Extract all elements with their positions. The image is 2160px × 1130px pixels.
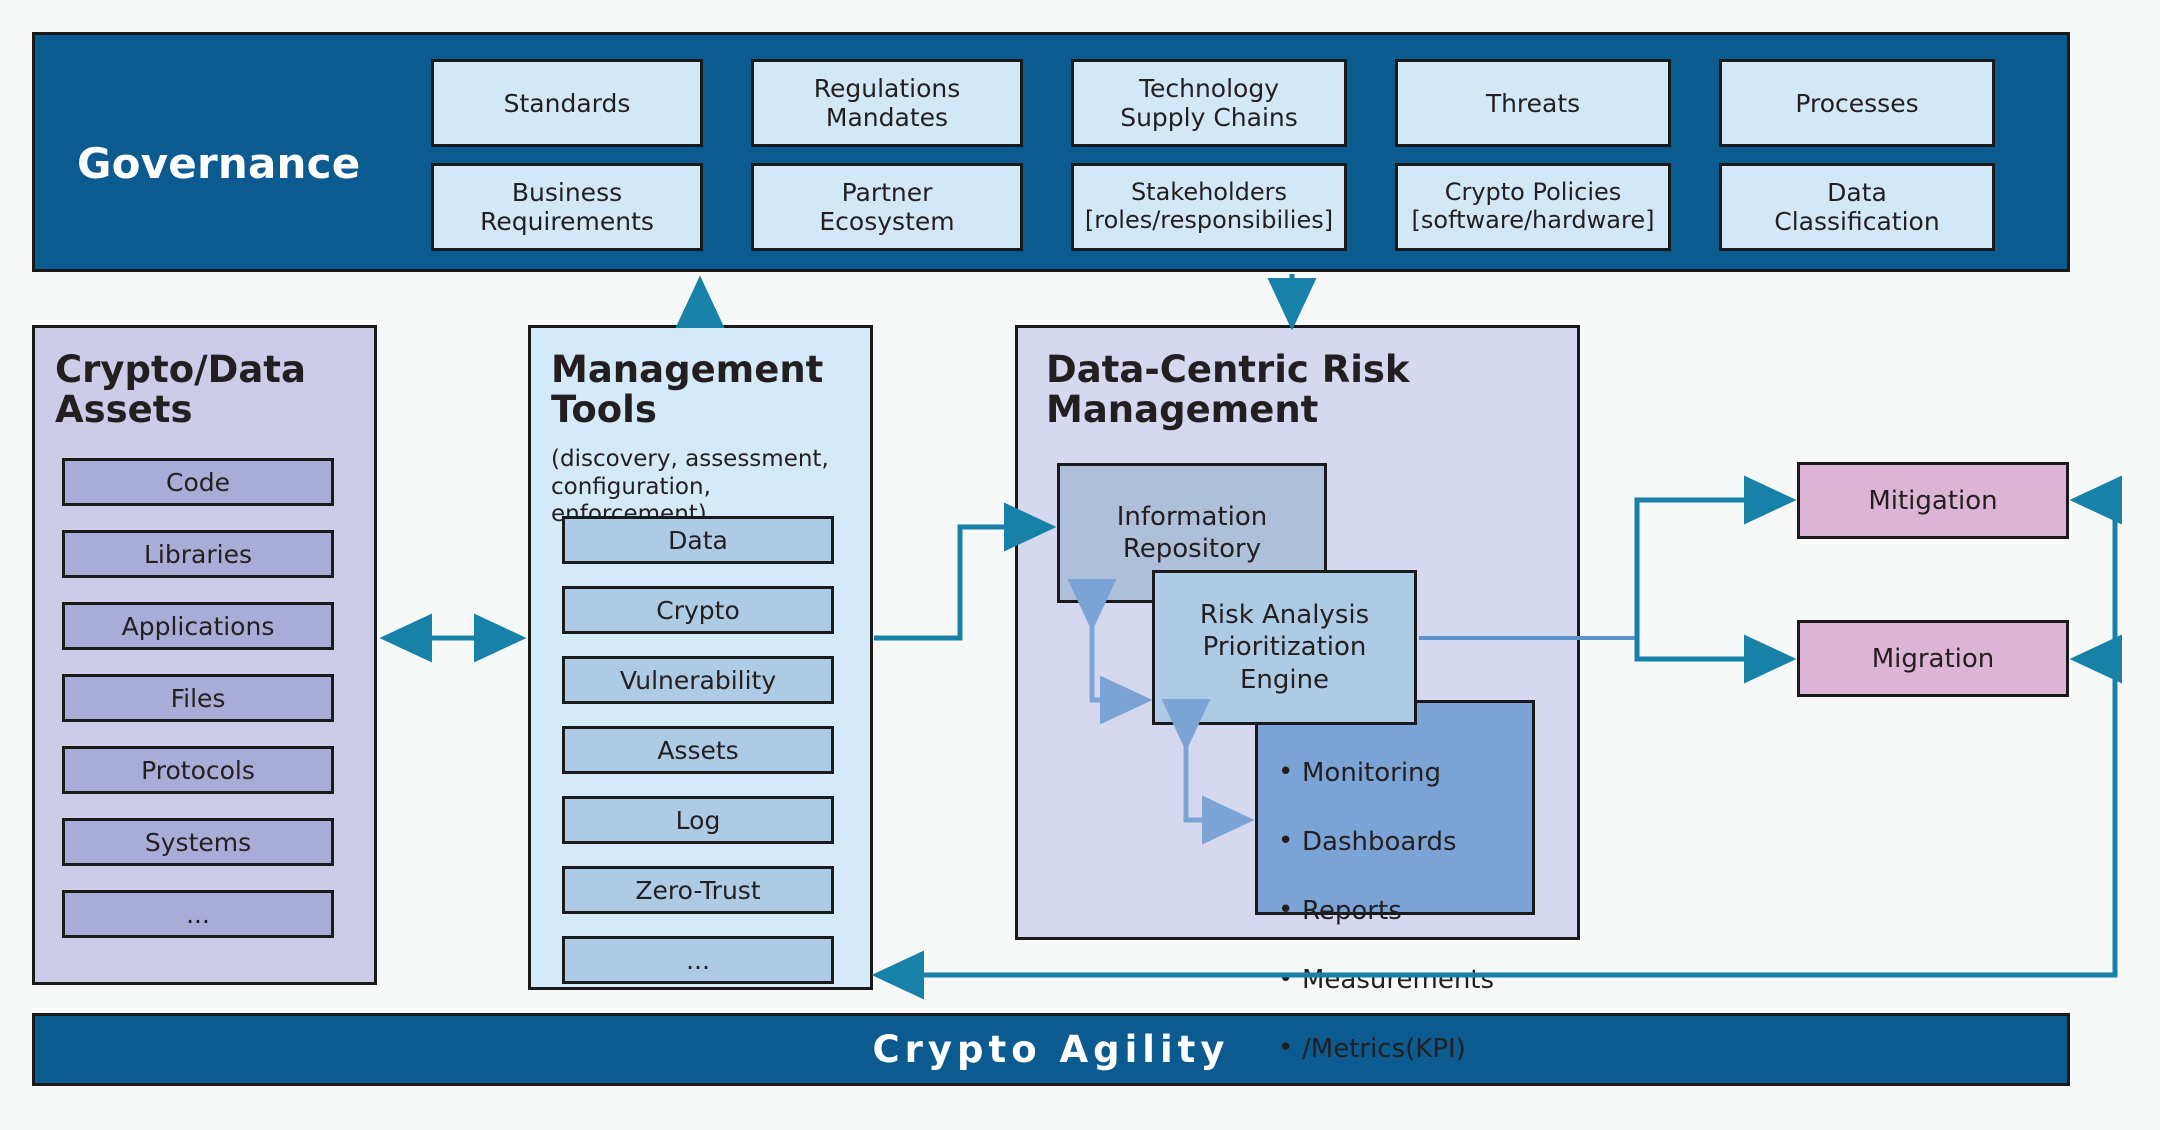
crypto-data-assets-title: Crypto/Data Assets [55, 350, 306, 430]
arrow-to-migration [1637, 638, 1790, 659]
metrics-item-measurements: Measurements [1276, 963, 1494, 998]
governance-cell-business-requirements[interactable]: Business Requirements [431, 163, 703, 251]
risk-analysis-prioritization-engine-box[interactable]: Risk Analysis Prioritization Engine [1152, 570, 1417, 725]
arrow-to-mitigation [1637, 500, 1790, 638]
cell-line: Supply Chains [1120, 103, 1298, 132]
cell-line: Classification [1774, 207, 1939, 236]
cell-line: Technology [1120, 74, 1298, 103]
governance-cell-crypto-policies[interactable]: Crypto Policies [software/hardware] [1395, 163, 1671, 251]
metrics-list: Monitoring Dashboards Reports Measuremen… [1258, 703, 1494, 1101]
tool-item-more[interactable]: ... [562, 936, 834, 984]
governance-section: Governance Standards Regulations Mandate… [32, 32, 2070, 272]
cell-line: Business [480, 178, 654, 207]
asset-item-more[interactable]: ... [62, 890, 334, 938]
migration-box[interactable]: Migration [1797, 620, 2069, 697]
management-tools-title: Management Tools [551, 350, 823, 430]
governance-cell-standards[interactable]: Standards [431, 59, 703, 147]
cell-line: Stakeholders [1085, 179, 1333, 207]
cell-line: Partner [819, 178, 954, 207]
governance-cell-partner-ecosystem[interactable]: Partner Ecosystem [751, 163, 1023, 251]
asset-item-code[interactable]: Code [62, 458, 334, 506]
metrics-item-reports: Reports [1276, 894, 1494, 929]
asset-item-applications[interactable]: Applications [62, 602, 334, 650]
cell-line: Threats [1486, 89, 1580, 118]
data-centric-risk-management-title: Data-Centric Risk Management [1046, 350, 1410, 430]
asset-item-libraries[interactable]: Libraries [62, 530, 334, 578]
mitigation-box[interactable]: Mitigation [1797, 462, 2069, 539]
tool-item-zero-trust[interactable]: Zero-Trust [562, 866, 834, 914]
management-tools-panel: Management Tools (discovery, assessment,… [528, 325, 873, 990]
governance-cell-stakeholders[interactable]: Stakeholders [roles/responsibilies] [1071, 163, 1347, 251]
metrics-item-kpi: /Metrics(KPI) [1276, 1032, 1494, 1067]
crypto-agility-banner: Crypto Agility [32, 1013, 2070, 1086]
governance-title: Governance [77, 139, 360, 188]
tool-item-vulnerability[interactable]: Vulnerability [562, 656, 834, 704]
cell-line: Requirements [480, 207, 654, 236]
monitoring-metrics-box[interactable]: Monitoring Dashboards Reports Measuremen… [1255, 700, 1535, 915]
governance-cell-technology-supply-chains[interactable]: Technology Supply Chains [1071, 59, 1347, 147]
asset-item-systems[interactable]: Systems [62, 818, 334, 866]
governance-cell-threats[interactable]: Threats [1395, 59, 1671, 147]
cell-line: Processes [1795, 89, 1918, 118]
governance-cell-data-classification[interactable]: Data Classification [1719, 163, 1995, 251]
cell-line: [software/hardware] [1412, 207, 1655, 235]
cell-line: Mandates [814, 103, 961, 132]
cell-line: Crypto Policies [1412, 179, 1655, 207]
crypto-data-assets-panel: Crypto/Data Assets Code Libraries Applic… [32, 325, 377, 985]
cell-line: [roles/responsibilies] [1085, 207, 1333, 235]
tool-item-assets[interactable]: Assets [562, 726, 834, 774]
tool-item-log[interactable]: Log [562, 796, 834, 844]
cell-line: Regulations [814, 74, 961, 103]
metrics-item-dashboards: Dashboards [1276, 825, 1494, 860]
crypto-agility-label: Crypto Agility [873, 1028, 1230, 1071]
tool-item-data[interactable]: Data [562, 516, 834, 564]
governance-cell-regulations-mandates[interactable]: Regulations Mandates [751, 59, 1023, 147]
diagram-canvas: Governance Standards Regulations Mandate… [0, 0, 2160, 1130]
tool-item-crypto[interactable]: Crypto [562, 586, 834, 634]
asset-item-files[interactable]: Files [62, 674, 334, 722]
metrics-item-monitoring: Monitoring [1276, 756, 1494, 791]
cell-line: Data [1774, 178, 1939, 207]
cell-line: Ecosystem [819, 207, 954, 236]
governance-cell-processes[interactable]: Processes [1719, 59, 1995, 147]
cell-line: Standards [504, 89, 631, 118]
asset-item-protocols[interactable]: Protocols [62, 746, 334, 794]
